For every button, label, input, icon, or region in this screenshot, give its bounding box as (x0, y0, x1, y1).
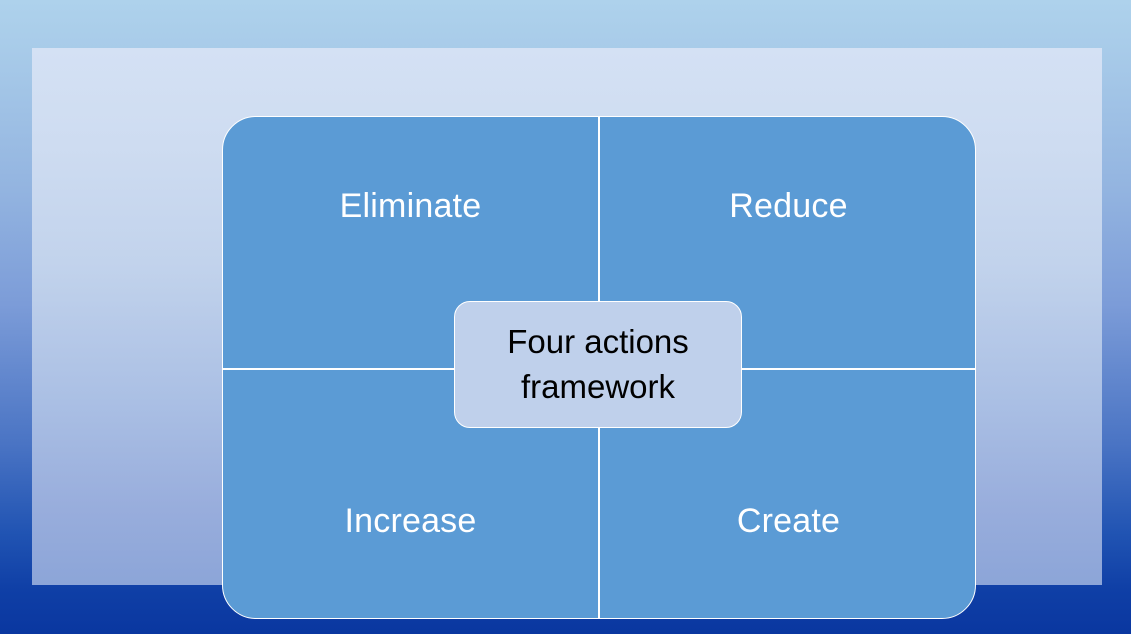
content-panel: Eliminate Reduce Increase Create Four ac… (32, 48, 1102, 585)
center-callout-line-1: Four actions (507, 320, 689, 365)
center-callout-line-2: framework (521, 365, 675, 410)
quadrant-label-reduce: Reduce (729, 189, 847, 223)
quadrant-label-create: Create (737, 504, 840, 538)
slide-canvas: Eliminate Reduce Increase Create Four ac… (0, 0, 1131, 634)
quadrant-label-eliminate: Eliminate (340, 189, 482, 223)
quadrant-label-increase: Increase (344, 504, 476, 538)
center-callout-box[interactable]: Four actions framework (454, 301, 742, 428)
